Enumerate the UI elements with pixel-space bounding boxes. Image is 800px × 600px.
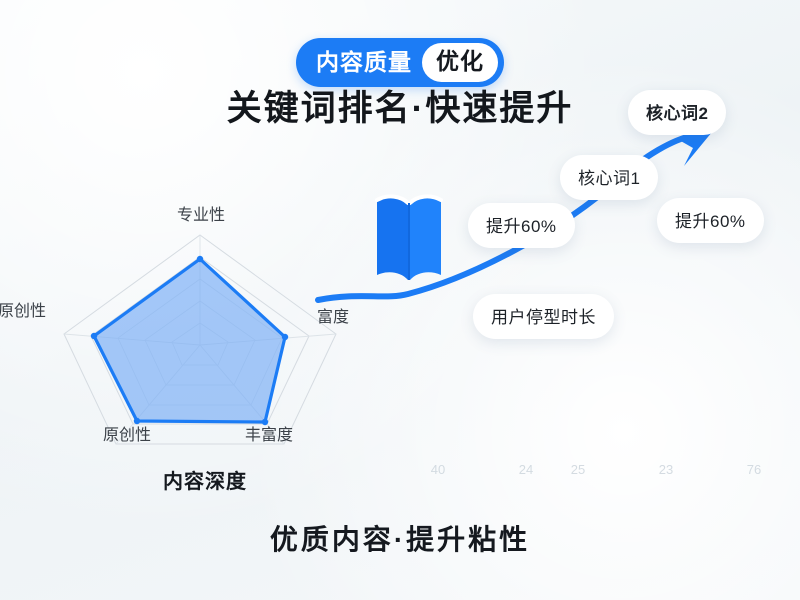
open-book-icon (374, 188, 444, 283)
radar-axis-label-right: 富度 (317, 303, 349, 327)
footer-title: 优质内容·提升粘性 (0, 518, 800, 558)
radar-axis-label-left: 原创性 (0, 297, 46, 321)
content-quality-badge: 内容质量 优化 (296, 38, 504, 87)
radar-chart-svg (55, 225, 345, 455)
radar-axis-label-bottom-right: 丰富度 (245, 421, 293, 445)
poster-canvas: 内容质量 优化 关键词排名·快速提升 (0, 0, 800, 600)
callout-uplift-right[interactable]: 提升60% (657, 198, 764, 243)
axis-strip-value-2: 25 (552, 462, 604, 477)
axis-strip-value-1: 24 (500, 462, 552, 477)
callout-uplift-left[interactable]: 提升60% (468, 203, 575, 248)
callout-keyword-1[interactable]: 核心词1 (560, 155, 658, 200)
radar-chart: 专业性 富度 丰富度 原创性 原创性 (55, 225, 345, 455)
content-depth-label: 内容深度 (163, 465, 247, 494)
radar-series-area (94, 259, 285, 422)
axis-strip-value-4: 76 (728, 462, 780, 477)
badge-main-label: 内容质量 (316, 51, 422, 74)
axis-strip: 40 24 25 23 76 (412, 462, 782, 477)
radar-axis-label-top: 专业性 (177, 201, 225, 225)
callout-keyword-2[interactable]: 核心词2 (628, 90, 726, 135)
axis-strip-value-0: 40 (412, 462, 464, 477)
badge-row: 内容质量 优化 (0, 38, 800, 87)
axis-strip-value-3: 23 (640, 462, 692, 477)
callout-dwell-time[interactable]: 用户停型时长 (473, 294, 614, 339)
radar-axis-label-bottom-left: 原创性 (103, 421, 151, 445)
badge-chip-label: 优化 (422, 43, 498, 82)
